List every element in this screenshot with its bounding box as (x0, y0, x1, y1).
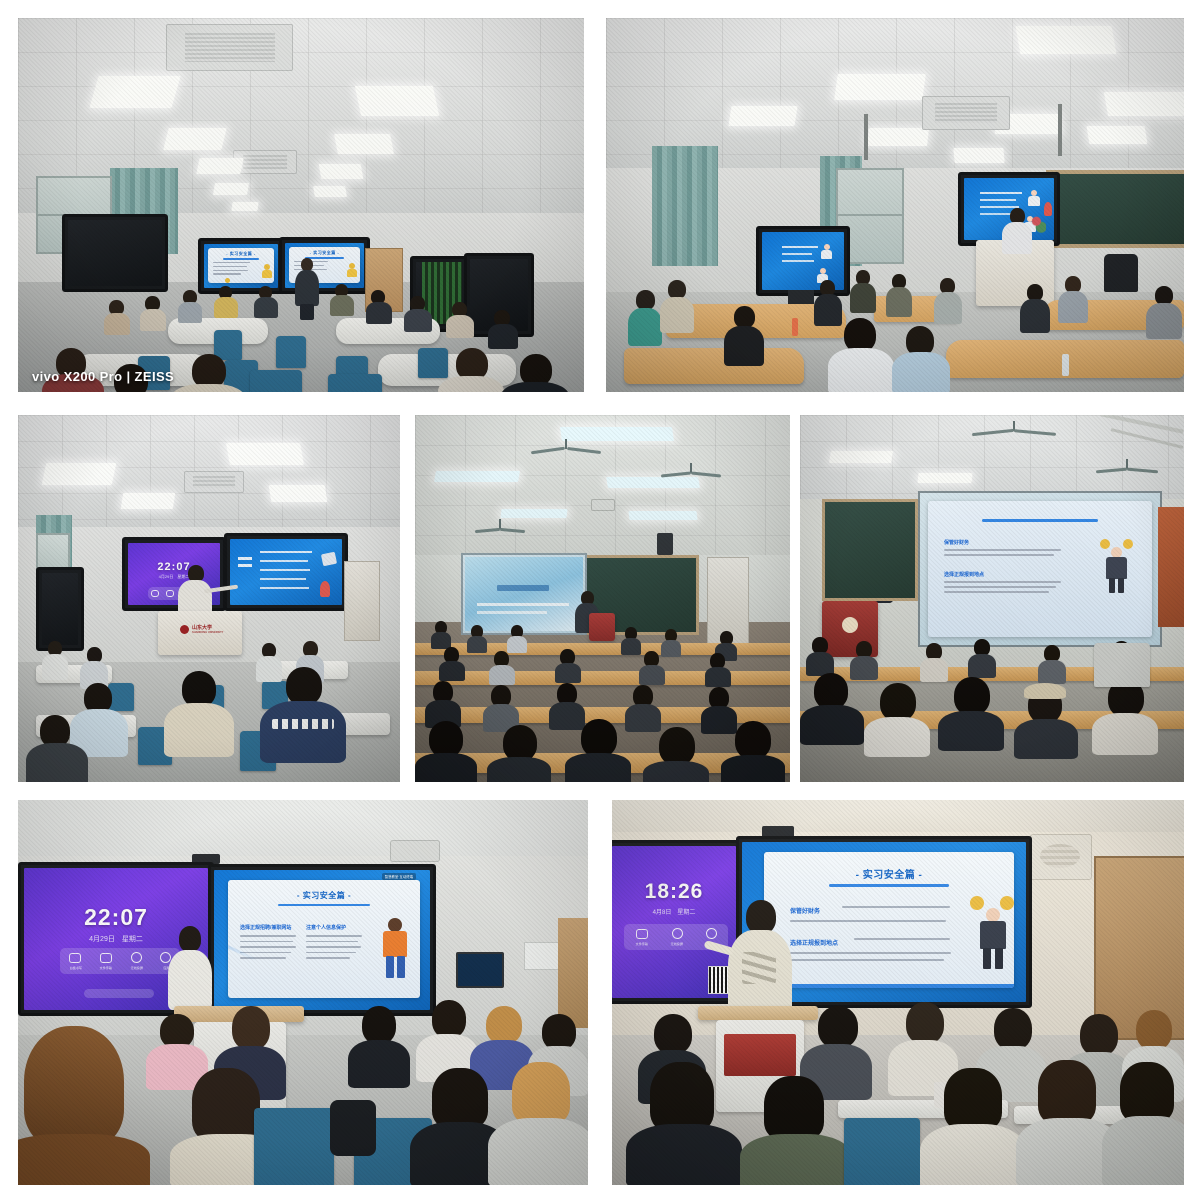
student-foreground (1014, 687, 1078, 757)
window-curtain (652, 146, 718, 266)
wall-display-slide[interactable]: 智慧教室·互动终端 - 实习安全篇 - 选择正规招聘/兼职网站 注意个人信息保护 (208, 864, 436, 1016)
ceiling-light (196, 158, 243, 174)
attendee (628, 290, 662, 344)
slide-rule (982, 519, 1098, 522)
panel-seminar-room-greenboard[interactable] (606, 18, 1184, 392)
display-status-badge: 智慧教室·互动终端 (382, 873, 416, 880)
attendee (934, 278, 962, 322)
ceiling-light (213, 183, 249, 195)
student (178, 290, 202, 322)
student-foreground (565, 719, 631, 782)
projection-screen (461, 553, 587, 635)
student-foreground (487, 725, 551, 782)
backpack (330, 1100, 376, 1156)
lectern-school-name: 山东大学 (192, 624, 212, 631)
ceiling-light-strip (434, 471, 520, 482)
ceiling-light (1104, 92, 1184, 116)
chair-foreground (254, 1108, 334, 1185)
panel-classroom-speaker-with-clock-display[interactable]: 22:07 4月29日 星期二 白板书写 文件传输 无线投屏 (18, 800, 588, 1185)
dock-icon-whiteboard[interactable] (151, 590, 159, 597)
student (488, 310, 518, 348)
slide-figure-icon (1026, 190, 1042, 210)
ceiling-light (728, 106, 797, 126)
presenter-gesturing (728, 900, 792, 1018)
ceiling-light (313, 186, 347, 197)
slide-figure-icon (260, 264, 274, 280)
ceiling-light (163, 128, 226, 150)
ceiling-light (1016, 26, 1117, 54)
slide-figure-worker-icon (380, 918, 410, 980)
student-foreground (1102, 1062, 1184, 1185)
panel-flat-classroom-dual-screen[interactable]: - 实习安全篇 - (18, 18, 584, 392)
lectern: 山东大学 SHANDONG UNIVERSITY (158, 611, 242, 655)
projector-mount-2 (1058, 104, 1062, 156)
flowers (1030, 214, 1046, 238)
wall-speaker (390, 840, 440, 862)
slide-body-a2 (790, 920, 952, 922)
attendee (660, 280, 694, 332)
slide-title-2: - 实习安全篇 - (289, 250, 360, 256)
slide-figure-icon-3 (345, 263, 359, 279)
student-foreground (164, 671, 234, 755)
camera-watermark: vivo X200 Pro | ZEISS (32, 369, 174, 384)
screen-pagination-pill[interactable] (84, 989, 154, 998)
wall-display-left[interactable] (36, 567, 84, 651)
slide-title: - 实习安全篇 - (228, 890, 420, 901)
student-foreground (800, 673, 864, 743)
student (850, 641, 878, 677)
ceiling-light (829, 451, 893, 463)
student (254, 286, 278, 318)
ceiling-light (355, 86, 439, 116)
chair-foreground (328, 374, 382, 392)
student-foreground (740, 1076, 852, 1185)
ceiling-ac-unit (184, 471, 244, 493)
wall-ac-vent (1040, 844, 1080, 868)
chair-foreground (844, 1118, 920, 1185)
lectern-school-name-en: SHANDONG UNIVERSITY (192, 631, 223, 634)
slide-card: 保管好财务 选择正规报到地点 (928, 501, 1152, 637)
clock-widget: 18:26 4月8日 星期二 (612, 880, 736, 916)
dock-label: 文件传输 (636, 941, 648, 946)
ceiling-light (226, 443, 304, 465)
student-foreground (643, 727, 709, 782)
chair (276, 336, 306, 368)
student (348, 1006, 410, 1086)
attendee-foreground (828, 318, 894, 392)
ceiling-fan (475, 519, 525, 537)
dock-label: 白板书写 (69, 965, 81, 970)
student-foreground (18, 1026, 150, 1185)
student (968, 639, 996, 675)
student (80, 647, 108, 687)
student (489, 651, 515, 683)
student-foreground (170, 354, 246, 392)
projector (591, 499, 615, 511)
slide-rule (278, 904, 370, 906)
chalkboard (1046, 170, 1184, 248)
university-seal-icon (842, 617, 858, 633)
water-bottle (792, 318, 798, 336)
chair-foreground (250, 370, 302, 392)
student-foreground (438, 348, 504, 392)
group-table (624, 348, 804, 384)
wall-display-agenda[interactable] (224, 533, 348, 611)
dock-icon-cast[interactable]: 无线投屏 (670, 928, 684, 946)
slide-body (213, 262, 253, 275)
ceiling-light (89, 76, 180, 108)
ceiling-fan (531, 439, 601, 461)
attendee (1146, 286, 1182, 338)
wall-display-left[interactable] (62, 214, 168, 292)
panel-tiered-lecture-hall-projector[interactable] (415, 415, 790, 782)
student-foreground (920, 1068, 1026, 1185)
student (639, 651, 665, 683)
ceiling-light (334, 134, 394, 154)
door[interactable] (344, 561, 380, 641)
wall-display-main-right[interactable]: - 实习安全篇 - (279, 237, 370, 294)
ceiling-light (231, 202, 258, 211)
ceiling-light (269, 485, 328, 502)
projector-mount (864, 114, 868, 160)
slide-heading-b: 选择正规报到地点 (790, 938, 838, 947)
student (555, 649, 581, 681)
student (621, 627, 641, 653)
student-foreground (26, 715, 88, 782)
dock-icon-cast[interactable]: 无线投屏 (130, 952, 144, 970)
projection-screen: 保管好财务 选择正规报到地点 (918, 491, 1162, 647)
student-foreground (488, 1062, 588, 1185)
wall-cabinet (1158, 507, 1184, 627)
ceiling-light (121, 493, 176, 509)
student (1038, 645, 1066, 681)
student (425, 681, 461, 725)
student-foreground (721, 721, 785, 782)
agenda-title (238, 557, 252, 567)
ceiling-light (953, 148, 1004, 163)
slide-figure-businessman-icon (1100, 537, 1132, 593)
student (140, 296, 166, 330)
ceiling-fan (1096, 459, 1158, 479)
attendee (724, 306, 764, 364)
slide-bottom-bar (764, 984, 1014, 988)
student-foreground (1092, 679, 1158, 753)
slide-rule (223, 258, 260, 260)
attendee (850, 270, 876, 312)
ceiling-fan (972, 421, 1056, 445)
ceiling-ac-unit (166, 24, 293, 71)
panel-smart-classroom-speaker-pointing[interactable]: 22:07 4月29日 星期二 (18, 415, 400, 782)
ceiling-light (42, 463, 117, 485)
student (404, 296, 432, 332)
lectern (589, 613, 615, 641)
photo-collage: - 实习安全篇 - (0, 0, 1200, 1200)
slide-heading-left: 选择正规招聘/兼职网站 (240, 924, 291, 931)
dock-icon-whiteboard[interactable]: 白板书写 (69, 953, 83, 970)
student-foreground (415, 721, 477, 782)
slide-heading-a: 保管好财务 (944, 539, 969, 546)
speaker (294, 258, 320, 318)
student (439, 647, 465, 679)
agenda-list (260, 551, 312, 589)
slide-body-a (944, 549, 1066, 559)
dock-icon-file-transfer[interactable]: 文件传输 (99, 953, 113, 970)
small-wall-monitor[interactable] (456, 952, 504, 988)
attendee (1058, 276, 1088, 322)
slide-icon-rocket (320, 581, 330, 597)
dock-label: 无线投屏 (130, 965, 142, 970)
clock-time: 18:26 (612, 880, 736, 904)
student-foreground (626, 1062, 742, 1185)
bench-row (415, 671, 790, 685)
attendee (1020, 284, 1050, 332)
student (705, 653, 731, 685)
student-foreground (260, 667, 346, 763)
ceiling-light (834, 74, 926, 100)
dock-label: 文件传输 (100, 965, 112, 970)
dock-icon-file-transfer[interactable] (166, 590, 174, 597)
slide-figure-businessman-icon (970, 894, 1014, 970)
slide-icon-book (321, 552, 337, 567)
slide-figure-icon-3 (820, 244, 834, 262)
jersey-text (272, 719, 334, 729)
panel-classroom-presenter-gesturing[interactable]: 18:26 4月8日 星期二 文件传输 无线投屏 应用 (612, 800, 1184, 1185)
student (806, 637, 834, 673)
water-bottle-2 (1062, 354, 1069, 376)
chalkboard-side (822, 499, 918, 601)
student (366, 290, 392, 324)
projection-slide-line (477, 611, 547, 614)
ceiling-light (319, 164, 364, 179)
student-foreground (864, 683, 930, 755)
slide-title: - 实习安全篇 - (208, 251, 274, 257)
slide-body-b (944, 581, 1066, 593)
chair (1094, 643, 1150, 687)
ceiling-light-strip (500, 509, 567, 518)
slide-card: - 实习安全篇 - 保管好财务 选择正规报到地点 (764, 852, 1014, 988)
slide-figure-icon-2 (222, 278, 234, 283)
ceiling-light-strip (628, 511, 697, 520)
ceiling-light (917, 473, 972, 483)
clock-date: 4月8日 星期二 (612, 907, 736, 916)
slide-heading-right: 注意个人信息保护 (306, 924, 346, 931)
slide-card: - 实习安全篇 - (208, 248, 274, 283)
dock-label: 无线投屏 (671, 941, 683, 946)
ceiling-ac-unit (922, 96, 1010, 130)
slide-menu-list-2 (782, 246, 818, 262)
door[interactable] (558, 918, 588, 1028)
attendee-foreground (892, 326, 950, 392)
slide-body-right (306, 935, 364, 959)
dock-icon-file-transfer[interactable]: 文件传输 (635, 929, 649, 946)
student (920, 643, 948, 679)
ceiling-fan (661, 463, 721, 483)
student (214, 286, 238, 318)
attendee (886, 274, 912, 316)
slide-card: - 实习安全篇 - 选择正规招聘/兼职网站 注意个人信息保护 (228, 880, 420, 998)
university-seal-icon (180, 625, 189, 634)
student (330, 284, 354, 316)
slide-title: - 实习安全篇 - (764, 866, 1014, 881)
student (467, 625, 487, 651)
student (446, 302, 474, 338)
presenter (1002, 208, 1032, 254)
student (507, 625, 527, 651)
slide-heading-b: 选择正规报到地点 (944, 571, 984, 578)
slide-rule (829, 884, 949, 887)
student (104, 300, 130, 334)
projection-slide-title (497, 585, 549, 591)
slide-body-b2 (790, 952, 954, 961)
dock-bar[interactable]: 白板书写 文件传输 无线投屏 应用 (60, 948, 180, 974)
chair (1104, 254, 1138, 292)
panel-lecture-hall-speaker-at-podium[interactable]: 保管好财务 选择正规报到地点 (800, 415, 1184, 782)
student-foreground (938, 677, 1004, 749)
ceiling-light (867, 128, 929, 146)
projection-slide-line (477, 603, 569, 606)
presenter (168, 926, 212, 1010)
tshirt-print (742, 952, 776, 984)
student (42, 641, 68, 679)
ceiling-light (1087, 126, 1148, 144)
student-foreground (500, 354, 570, 392)
slide-body-a (842, 906, 952, 913)
student (483, 685, 519, 729)
slide-body-b (854, 938, 954, 940)
student (431, 621, 451, 647)
slide-heading-a: 保管好财务 (790, 906, 820, 915)
speaker-box (657, 533, 673, 555)
